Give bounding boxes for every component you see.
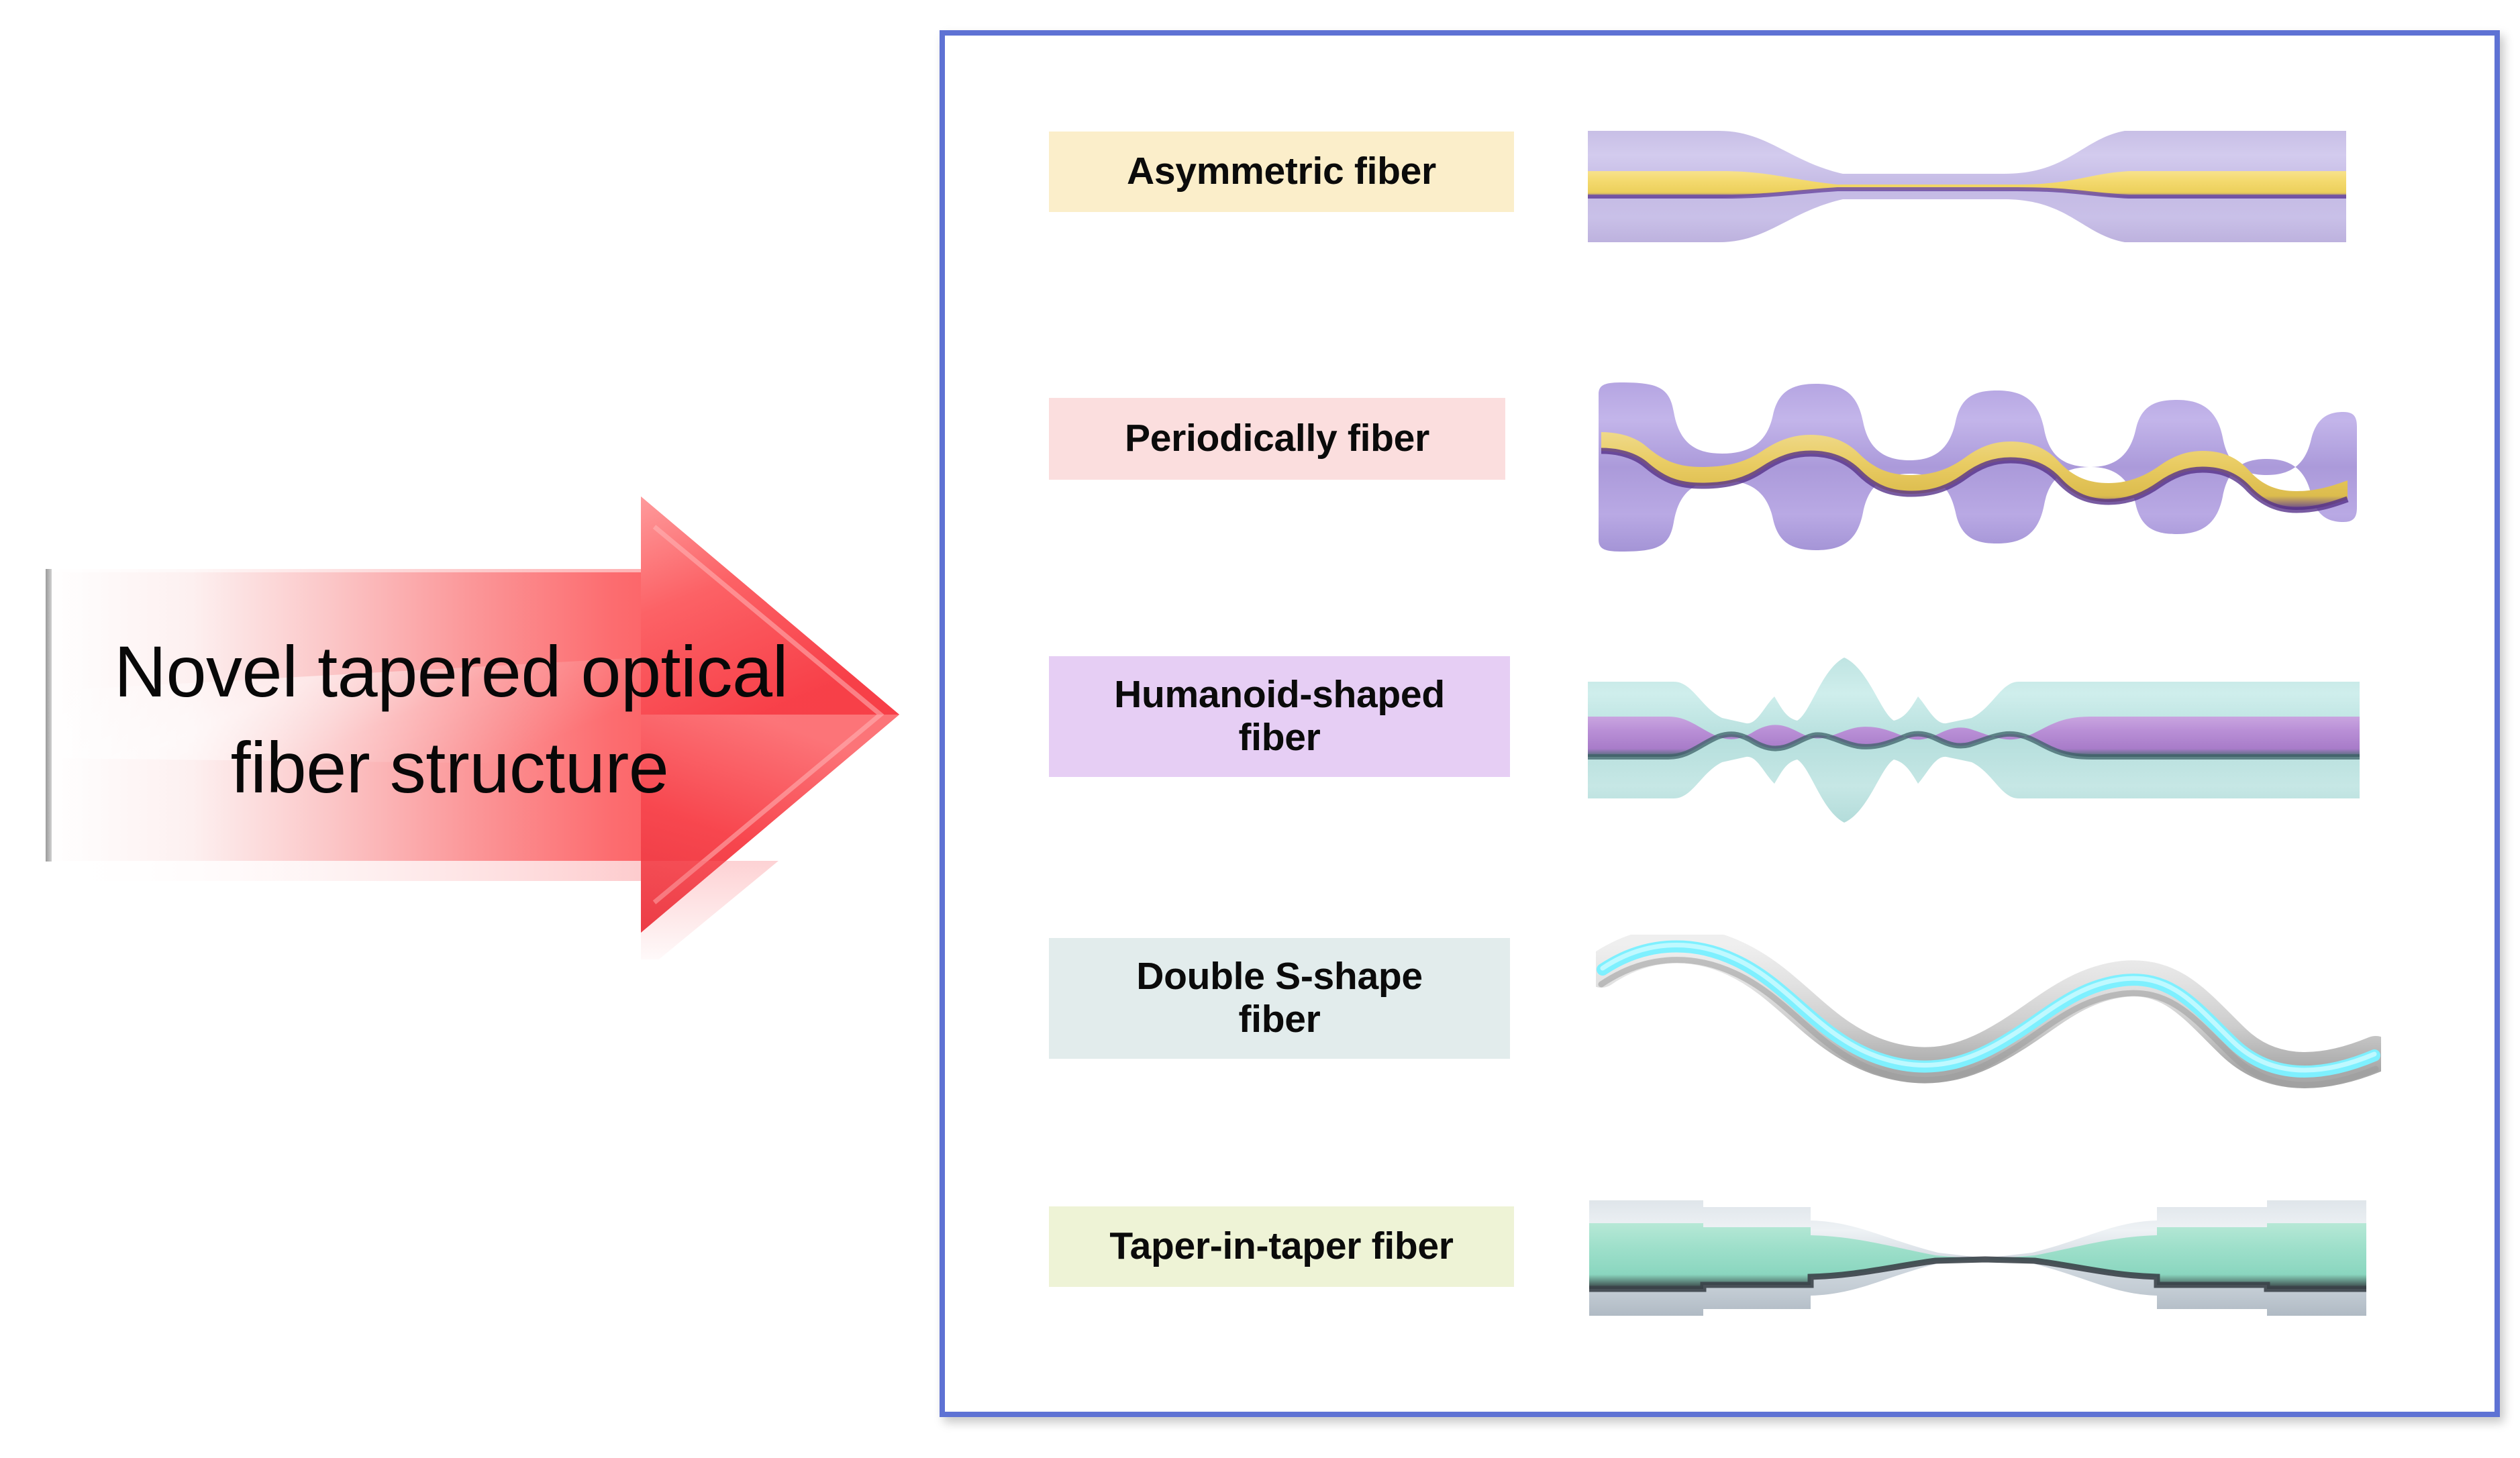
- art-asymmetric-fiber: [1588, 109, 2346, 264]
- callout-line-2: fiber structure: [114, 720, 785, 816]
- callout-arrow: Novel tapered optical fiber structure: [34, 490, 926, 959]
- asymmetric-fiber-icon: [1588, 109, 2346, 264]
- label-asymmetric-fiber: Asymmetric fiber: [1049, 132, 1514, 212]
- label-text-line-1: Humanoid-shaped: [1114, 674, 1445, 717]
- callout-line-1: Novel tapered optical: [114, 624, 785, 720]
- label-text: Asymmetric fiber: [1127, 150, 1436, 193]
- label-text: Taper-in-taper fiber: [1109, 1225, 1453, 1268]
- art-periodically-fiber: [1595, 368, 2360, 562]
- label-text: Periodically fiber: [1125, 417, 1429, 460]
- label-humanoid-shaped-fiber: Humanoid-shaped fiber: [1049, 656, 1510, 777]
- label-periodically-fiber: Periodically fiber: [1049, 398, 1505, 480]
- art-double-s-fiber: [1596, 935, 2381, 1109]
- label-text-line-1: Double S-shape: [1136, 955, 1423, 998]
- label-double-s-shape-fiber: Double S-shape fiber: [1049, 938, 1510, 1059]
- label-text-line-2: fiber: [1238, 717, 1320, 760]
- callout-text: Novel tapered optical fiber structure: [114, 624, 785, 815]
- double-s-shape-fiber-icon: [1596, 935, 2381, 1109]
- art-taper-in-taper-fiber: [1589, 1191, 2366, 1345]
- fiber-structures-panel: Asymmetric fiber: [940, 30, 2500, 1417]
- label-taper-in-taper-fiber: Taper-in-taper fiber: [1049, 1206, 1514, 1287]
- label-text-line-2: fiber: [1238, 998, 1320, 1041]
- humanoid-shaped-fiber-icon: [1588, 643, 2360, 837]
- periodically-fiber-icon: [1595, 368, 2360, 562]
- art-humanoid-fiber: [1588, 643, 2360, 837]
- taper-in-taper-fiber-icon: [1589, 1191, 2366, 1345]
